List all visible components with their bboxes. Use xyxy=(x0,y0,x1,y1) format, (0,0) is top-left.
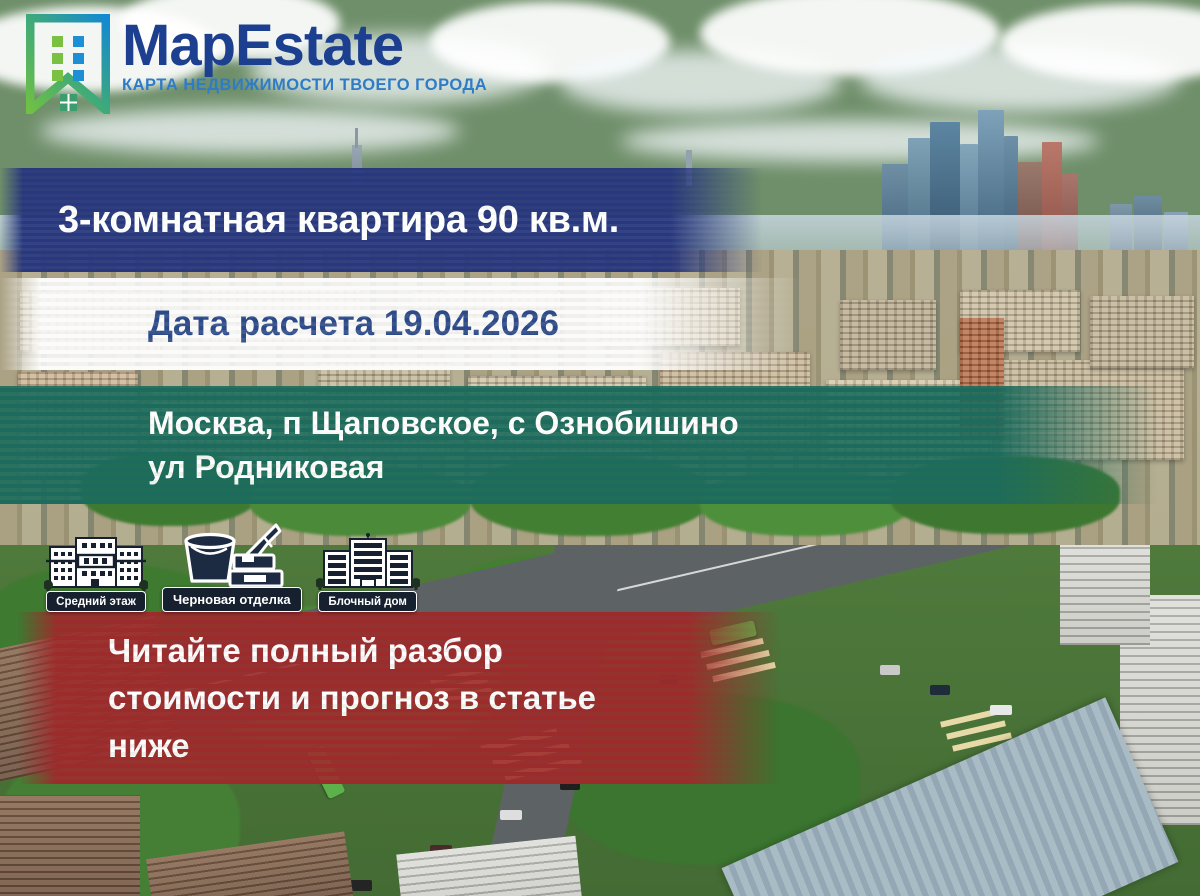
badge-rough-finish[interactable]: Черновая отделка xyxy=(162,521,302,612)
cta-banner: Читайте полный разбор стоимости и прогно… xyxy=(18,612,780,784)
calculation-date-banner: Дата расчета 19.04.2026 xyxy=(0,278,800,370)
property-title-banner: 3-комнатная квартира 90 кв.м. xyxy=(0,168,762,272)
brand-logo-text: MapEstate КАРТА НЕДВИЖИМОСТИ ТВОЕГО ГОРО… xyxy=(122,14,487,95)
address-line-1: Москва, п Щаповское, с Ознобишино xyxy=(148,401,1158,445)
property-feature-badges: Средний этаж Черновая отделка xyxy=(44,521,420,612)
apartment-block-icon xyxy=(44,533,148,595)
cta-text: Читайте полный разбор стоимости и прогно… xyxy=(18,627,780,770)
address-line-2: ул Родниковая xyxy=(148,445,1158,489)
badge-block-house[interactable]: Блочный дом xyxy=(316,533,420,612)
calculation-date-text: Дата расчета 19.04.2026 xyxy=(0,304,800,344)
cta-line-2: стоимости и прогноз в статье xyxy=(108,674,780,722)
brand-logo[interactable]: MapEstate КАРТА НЕДВИЖИМОСТИ ТВОЕГО ГОРО… xyxy=(26,14,487,114)
panel-building-icon xyxy=(316,533,420,595)
paint-bucket-trowel-bricks-icon xyxy=(172,521,292,591)
badge-label-middle-floor: Средний этаж xyxy=(46,591,146,612)
badge-middle-floor[interactable]: Средний этаж xyxy=(44,533,148,612)
real-estate-promo-poster: MapEstate КАРТА НЕДВИЖИМОСТИ ТВОЕГО ГОРО… xyxy=(0,0,1200,896)
badge-label-rough-finish: Черновая отделка xyxy=(162,587,302,612)
cta-line-3: ниже xyxy=(108,722,780,770)
property-title-text: 3-комнатная квартира 90 кв.м. xyxy=(0,199,762,242)
brand-tagline: КАРТА НЕДВИЖИМОСТИ ТВОЕГО ГОРОДА xyxy=(122,76,487,95)
badge-label-block-house: Блочный дом xyxy=(318,591,417,612)
address-banner: Москва, п Щаповское, с Ознобишино ул Род… xyxy=(0,386,1158,504)
brand-title: MapEstate xyxy=(122,18,487,74)
address-text: Москва, п Щаповское, с Ознобишино ул Род… xyxy=(0,401,1158,489)
cta-line-1: Читайте полный разбор xyxy=(108,627,780,675)
map-bookmark-building-icon xyxy=(26,14,110,114)
